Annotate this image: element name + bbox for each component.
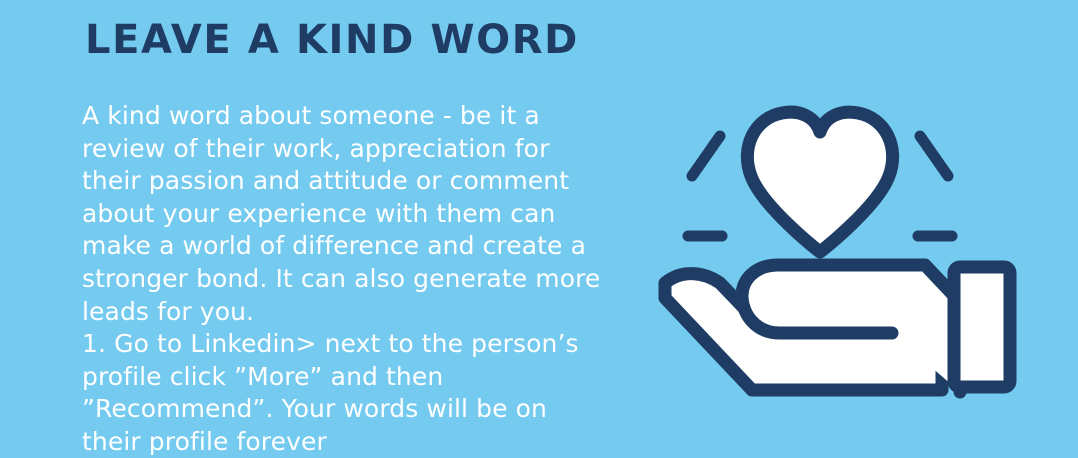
page-title: LEAVE A KIND WORD (85, 17, 579, 63)
body-text: A kind word about someone - be it a revi… (82, 100, 602, 458)
open-hand-icon (665, 265, 1010, 392)
sparkle-ray-top-left (692, 136, 720, 176)
heart-icon (747, 112, 892, 252)
illustration (630, 40, 1050, 420)
sparkle-ray-top-right (920, 136, 948, 176)
kind-word-graphic: LEAVE A KIND WORD A kind word about some… (0, 0, 1078, 458)
hand-cuff (954, 267, 1010, 387)
text-column: LEAVE A KIND WORD A kind word about some… (82, 0, 642, 458)
